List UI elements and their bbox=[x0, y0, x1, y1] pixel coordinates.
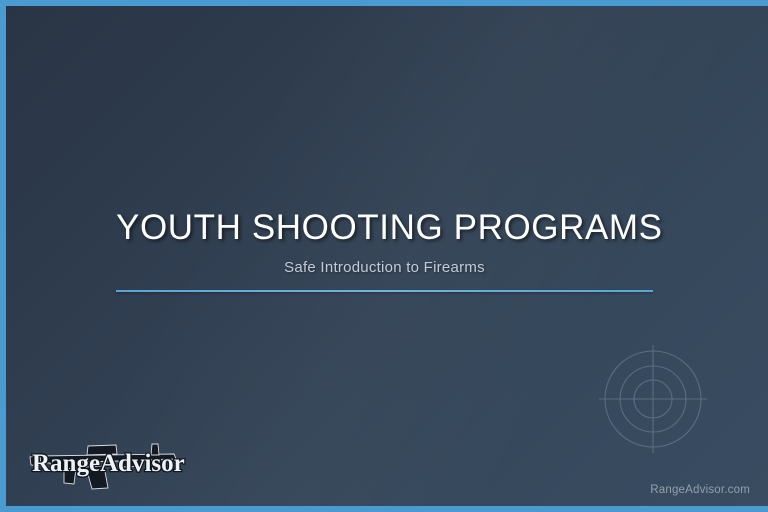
accent-divider bbox=[116, 290, 653, 292]
page-title: YOUTH SHOOTING PROGRAMS bbox=[116, 208, 653, 248]
brand-wordmark-advisor: Advisor bbox=[100, 450, 185, 477]
crosshair-target-icon bbox=[597, 343, 709, 455]
brand-logo: Range Advisor bbox=[24, 426, 194, 494]
title-block: YOUTH SHOOTING PROGRAMS Safe Introductio… bbox=[116, 208, 653, 292]
brand-wordmark-range: Range bbox=[32, 450, 100, 477]
page-subtitle: Safe Introduction to Firearms bbox=[116, 259, 653, 276]
slide-border-bottom bbox=[0, 506, 768, 512]
slide-border-top bbox=[0, 0, 768, 6]
slide-border-left bbox=[0, 0, 6, 512]
footer-url: RangeAdvisor.com bbox=[650, 484, 750, 496]
title-slide: YOUTH SHOOTING PROGRAMS Safe Introductio… bbox=[0, 0, 768, 512]
